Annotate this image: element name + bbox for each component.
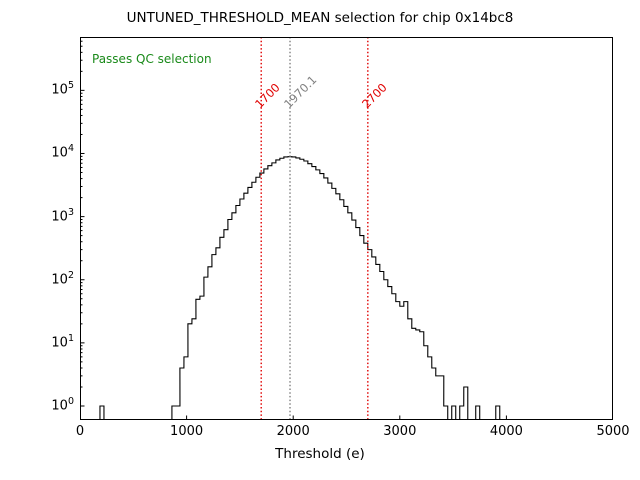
histogram-step-path xyxy=(100,157,500,420)
plot-area xyxy=(80,37,613,420)
y-tick-label: 102 xyxy=(6,272,74,287)
y-tick-label: 105 xyxy=(6,83,74,98)
x-tick-label: 4000 xyxy=(490,424,523,439)
x-tick-label: 0 xyxy=(76,424,84,439)
x-axis-label: Threshold (e) xyxy=(0,446,640,462)
x-tick-label: 1000 xyxy=(170,424,203,439)
qc-status-annotation: Passes QC selection xyxy=(92,52,212,66)
y-tick-label: 104 xyxy=(6,146,74,161)
x-tick-label: 5000 xyxy=(596,424,629,439)
y-tick-label: 103 xyxy=(6,209,74,224)
axis-ticks xyxy=(80,37,613,420)
x-tick-label: 2000 xyxy=(277,424,310,439)
y-tick-label: 101 xyxy=(6,335,74,350)
x-tick-label: 3000 xyxy=(383,424,416,439)
y-tick-labels: 100101102103104105 xyxy=(0,0,74,480)
page-title: UNTUNED_THRESHOLD_MEAN selection for chi… xyxy=(0,10,640,26)
histogram-svg xyxy=(80,37,613,420)
y-tick-label: 100 xyxy=(6,398,74,413)
chart-figure: UNTUNED_THRESHOLD_MEAN selection for chi… xyxy=(0,0,640,480)
